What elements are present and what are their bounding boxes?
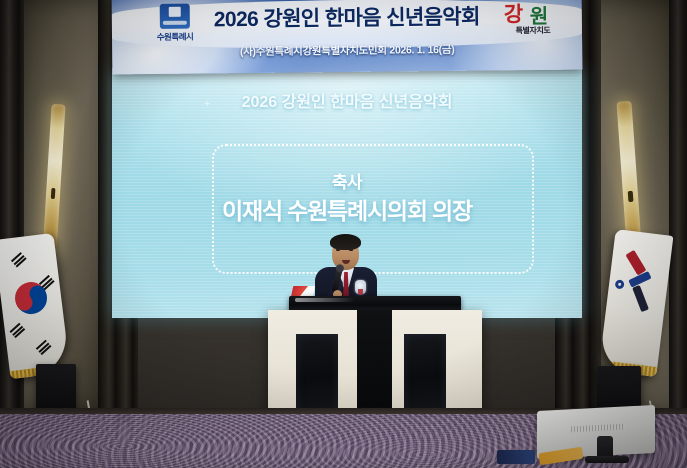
speaker-eye-left xyxy=(336,249,340,251)
trigram-gon xyxy=(36,340,52,355)
confidence-monitor xyxy=(537,408,667,466)
event-photo-stage: + 2026 강원인 한마음 신년음악회 축사 이재식 수원특례시의회 의장 수… xyxy=(0,0,687,468)
trigram-ri xyxy=(10,323,26,338)
gangwon-logo-sub: 특별자치도 xyxy=(502,25,564,37)
equipment-case xyxy=(497,450,535,464)
gangwon-province-logo: 강 원 특별자치도 xyxy=(502,0,565,48)
speaker-eye-right xyxy=(349,249,353,251)
trigram-geon xyxy=(11,252,27,267)
org-flag-mark-2 xyxy=(615,279,625,289)
screen-line-b: 이재식 수원특례시의회 의장 xyxy=(112,192,582,226)
sconce-slot-right xyxy=(628,190,634,201)
screen-title: 2026 강원인 한마음 신년음악회 xyxy=(112,88,582,112)
screen-line-a: 축사 xyxy=(112,168,582,193)
speaker-hair xyxy=(330,234,361,250)
curtain-far-right xyxy=(669,0,687,418)
event-banner: 수원특례시 2026 강원인 한마음 신년음악회 (사)수원특례시강원특별자치도… xyxy=(112,0,583,74)
gangwon-logo-char1: 강 xyxy=(504,0,523,28)
monitor-stand xyxy=(585,456,629,463)
speaker-boutonniere xyxy=(355,280,366,294)
org-flag-mark-3 xyxy=(632,285,649,312)
sconce-slot-left xyxy=(51,188,56,199)
podium-top-highlight xyxy=(295,298,355,302)
org-flag-mark-1 xyxy=(625,250,646,276)
